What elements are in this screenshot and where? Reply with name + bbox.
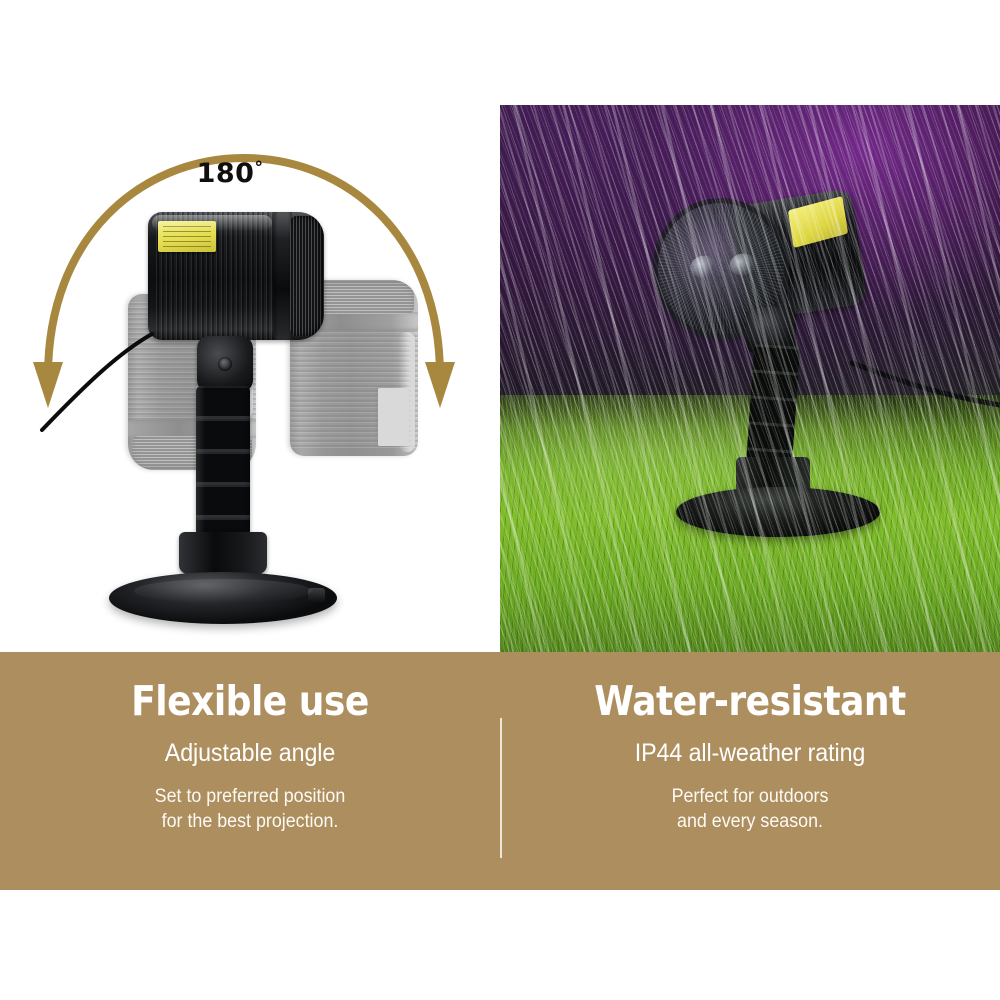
lens-bezel [290, 216, 324, 336]
projector-barrel [148, 212, 324, 340]
outdoor-base-disc [676, 487, 880, 537]
product-feature-page: 180° [0, 0, 1000, 1000]
outdoor-projector-stem [746, 344, 800, 469]
caption-subhead: Adjustable angle [18, 723, 483, 768]
page-footer-whitespace [0, 890, 1000, 1000]
caption-detail: Set to preferred position for the best p… [15, 768, 485, 836]
caption-columns: Flexible use Adjustable angle Set to pre… [0, 652, 1000, 890]
left-image-panel: 180° [0, 0, 500, 652]
caption-detail-line: Perfect for outdoors [515, 784, 985, 810]
right-image-panel [500, 105, 1000, 652]
body-highlight [399, 332, 415, 452]
caption-detail: Perfect for outdoors and every season. [515, 768, 985, 836]
caption-column-flexible-use: Flexible use Adjustable angle Set to pre… [0, 652, 500, 890]
base-notch [308, 588, 325, 603]
caption-divider [500, 718, 502, 858]
caption-detail-line: for the best projection. [15, 809, 485, 835]
caption-headline: Water-resistant [530, 652, 970, 723]
caption-detail-line: and every season. [515, 809, 985, 835]
stem-hub [179, 532, 267, 574]
projector-base-disc [109, 572, 337, 624]
body-highlight [152, 215, 272, 231]
degree-symbol: ° [254, 158, 263, 178]
caption-band: Flexible use Adjustable angle Set to pre… [0, 652, 1000, 890]
image-panels: 180° [0, 0, 1000, 652]
rotation-angle-label: 180° [0, 158, 460, 189]
caption-subhead: IP44 all-weather rating [518, 723, 983, 768]
caption-column-water-resistant: Water-resistant IP44 all-weather rating … [500, 652, 1000, 890]
caption-detail-line: Set to preferred position [15, 784, 485, 810]
projector-head-main [148, 212, 324, 340]
caption-headline: Flexible use [30, 652, 470, 723]
projector-stem [196, 386, 250, 536]
angle-value: 180 [197, 158, 255, 189]
tilt-pivot-joint [197, 336, 253, 392]
